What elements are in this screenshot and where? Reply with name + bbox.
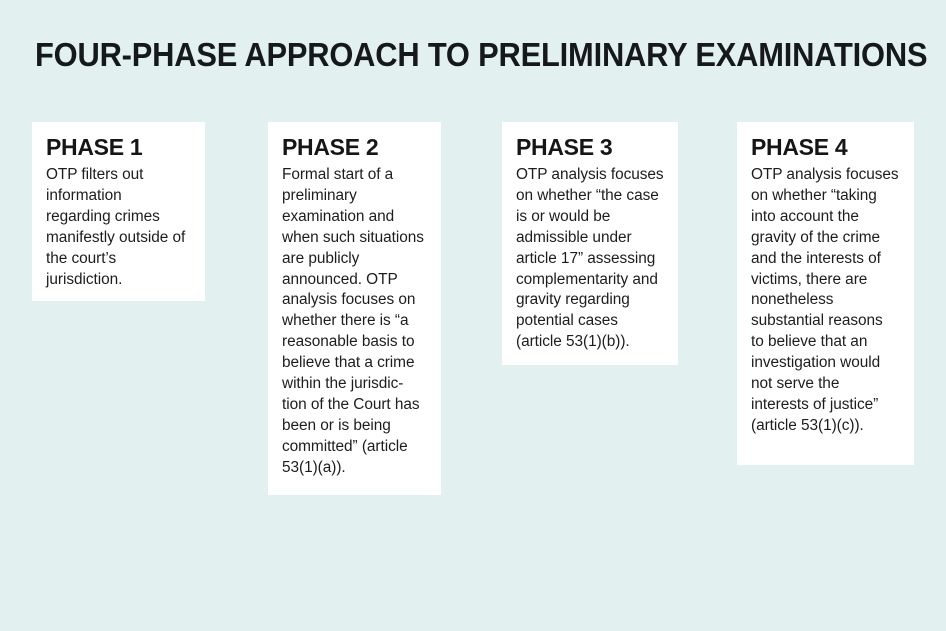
phase-card-2-heading: PHASE 2 <box>282 134 427 161</box>
phase-card-1-heading: PHASE 1 <box>46 134 191 161</box>
phase-card-4-body: OTP analysis focuses on whether “taking … <box>751 165 900 437</box>
phase-card-2-body: Formal start of a preliminary examinatio… <box>282 165 427 479</box>
phase-card-3-heading: PHASE 3 <box>516 134 664 161</box>
phase-card-1: PHASE 1 OTP filters out information rega… <box>32 122 205 301</box>
phase-card-4-heading: PHASE 4 <box>751 134 900 161</box>
infographic-canvas: FOUR-PHASE APPROACH TO PRELIMINARY EXAMI… <box>0 0 946 631</box>
phase-card-4: PHASE 4 OTP analysis focuses on whether … <box>737 122 914 465</box>
page-title: FOUR-PHASE APPROACH TO PRELIMINARY EXAMI… <box>35 36 867 74</box>
phase-card-3: PHASE 3 OTP analysis focuses on whether … <box>502 122 678 365</box>
phase-card-2: PHASE 2 Formal start of a preliminary ex… <box>268 122 441 495</box>
phase-card-1-body: OTP filters out information regarding cr… <box>46 165 191 290</box>
phase-card-3-body: OTP analysis focuses on whether “the cas… <box>516 165 664 353</box>
